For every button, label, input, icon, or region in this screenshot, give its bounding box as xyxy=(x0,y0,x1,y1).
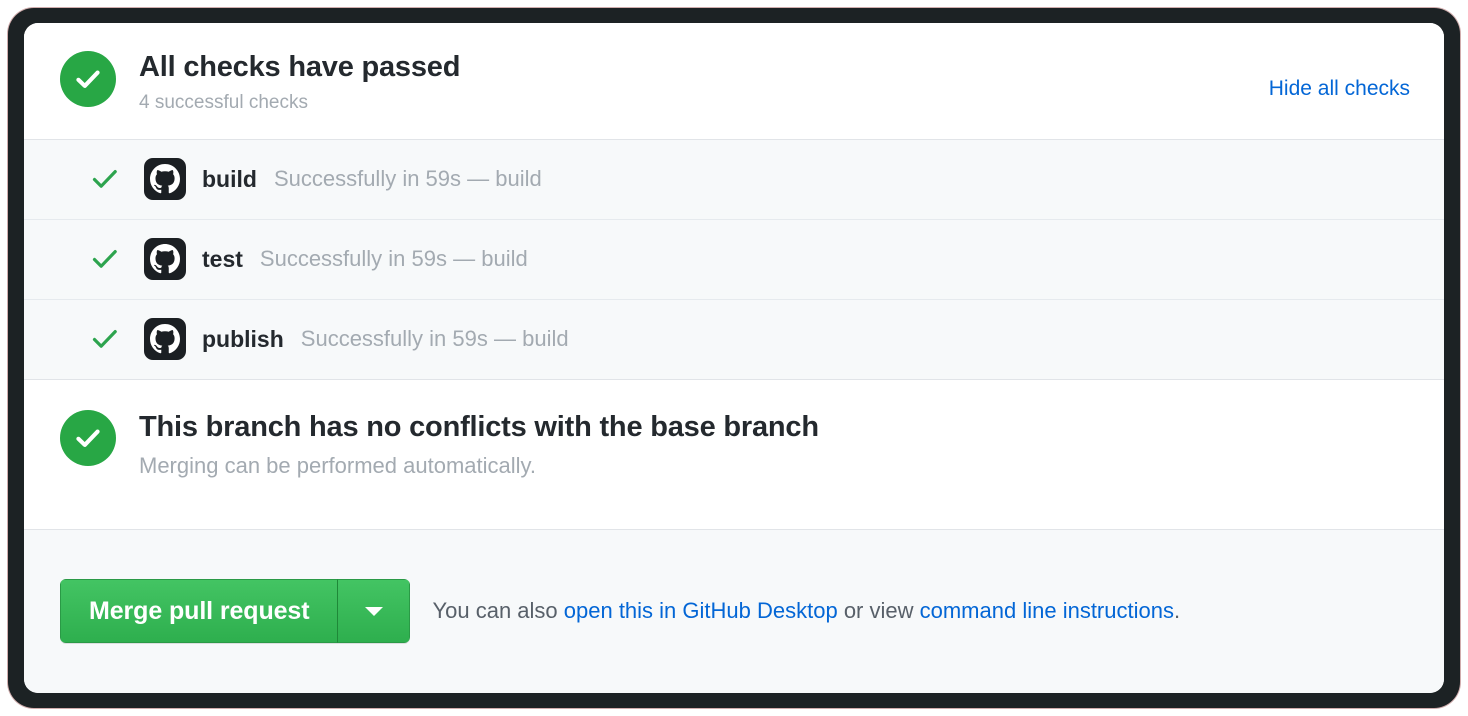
conflict-title: This branch has no conflicts with the ba… xyxy=(139,410,819,445)
check-icon xyxy=(92,248,122,270)
merge-status-box: All checks have passed 4 successful chec… xyxy=(24,23,1444,693)
check-icon xyxy=(92,328,122,350)
check-circle-icon xyxy=(60,410,116,466)
check-description: Successfully in 59s — build xyxy=(274,166,542,192)
note-middle: or view xyxy=(838,598,920,623)
github-octocat-icon xyxy=(144,158,186,200)
github-desktop-link[interactable]: open this in GitHub Desktop xyxy=(564,598,838,623)
check-row[interactable]: test Successfully in 59s — build xyxy=(24,220,1444,300)
github-octocat-icon xyxy=(144,318,186,360)
check-row[interactable]: build Successfully in 59s — build xyxy=(24,140,1444,220)
merge-conflict-status: This branch has no conflicts with the ba… xyxy=(24,380,1444,530)
check-name: test xyxy=(202,246,243,273)
merge-dropdown-button[interactable] xyxy=(338,579,410,643)
github-octocat-icon xyxy=(144,238,186,280)
check-circle-icon xyxy=(60,51,116,107)
check-icon xyxy=(92,168,122,190)
chevron-down-icon xyxy=(365,607,383,616)
command-line-instructions-link[interactable]: command line instructions xyxy=(920,598,1174,623)
checks-list: build Successfully in 59s — build test S… xyxy=(24,140,1444,380)
merge-pull-request-button[interactable]: Merge pull request xyxy=(60,579,338,643)
conflict-subtitle: Merging can be performed automatically. xyxy=(139,450,819,482)
hide-all-checks-link[interactable]: Hide all checks xyxy=(1269,77,1410,101)
check-row[interactable]: publish Successfully in 59s — build xyxy=(24,300,1444,380)
checks-header: All checks have passed 4 successful chec… xyxy=(24,23,1444,140)
merge-footer: Merge pull request You can also open thi… xyxy=(24,530,1444,693)
check-name: build xyxy=(202,166,257,193)
checks-summary: 4 successful checks xyxy=(139,89,460,117)
merge-help-note: You can also open this in GitHub Desktop… xyxy=(432,598,1180,624)
note-suffix: . xyxy=(1174,598,1180,623)
check-description: Successfully in 59s — build xyxy=(301,326,569,352)
check-name: publish xyxy=(202,326,284,353)
page-title: All checks have passed xyxy=(139,50,460,85)
merge-button-group: Merge pull request xyxy=(60,579,410,643)
check-description: Successfully in 59s — build xyxy=(260,246,528,272)
screenshot-frame: All checks have passed 4 successful chec… xyxy=(8,8,1460,708)
note-prefix: You can also xyxy=(432,598,563,623)
